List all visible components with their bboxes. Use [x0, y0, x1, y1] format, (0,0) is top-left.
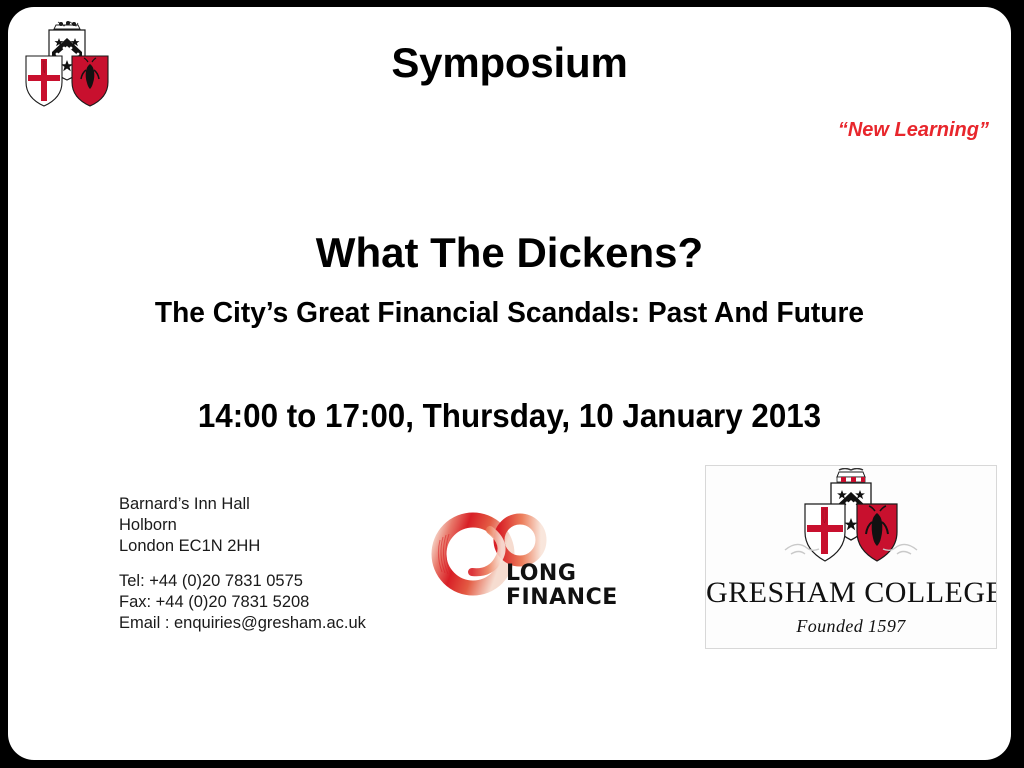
area-line: Holborn	[119, 515, 366, 536]
gresham-college-name: GRESHAM COLLEGE	[706, 576, 996, 610]
long-finance-wordmark: LONG FINANCE	[506, 562, 618, 610]
page-title: Symposium	[8, 39, 1011, 87]
long-finance-line1: LONG	[506, 562, 618, 586]
long-finance-line2: FINANCE	[506, 586, 618, 610]
slide-frame: Symposium “New Learning” What The Dicken…	[0, 0, 1024, 768]
gresham-crest-icon	[781, 468, 921, 578]
long-finance-logo: LONG FINANCE	[428, 512, 633, 612]
contact-details: Barnard’s Inn Hall Holborn London EC1N 2…	[119, 494, 366, 634]
event-datetime: 14:00 to 17:00, Thursday, 10 January 201…	[33, 397, 986, 435]
telephone-line: Tel: +44 (0)20 7831 0575	[119, 571, 366, 592]
new-learning-tagline: “New Learning”	[838, 119, 989, 142]
fax-line: Fax: +44 (0)20 7831 5208	[119, 592, 366, 613]
event-subheading: The City’s Great Financial Scandals: Pas…	[23, 297, 996, 330]
postcode-line: London EC1N 2HH	[119, 536, 366, 557]
slide-canvas: Symposium “New Learning” What The Dicken…	[8, 7, 1011, 760]
gresham-founded-text: Founded 1597	[706, 616, 996, 637]
event-heading: What The Dickens?	[8, 229, 1011, 277]
venue-line: Barnard’s Inn Hall	[119, 494, 366, 515]
address-spacer	[119, 557, 366, 571]
gresham-college-logo: GRESHAM COLLEGE Founded 1597	[705, 465, 997, 649]
email-line: Email : enquiries@gresham.ac.uk	[119, 613, 366, 634]
